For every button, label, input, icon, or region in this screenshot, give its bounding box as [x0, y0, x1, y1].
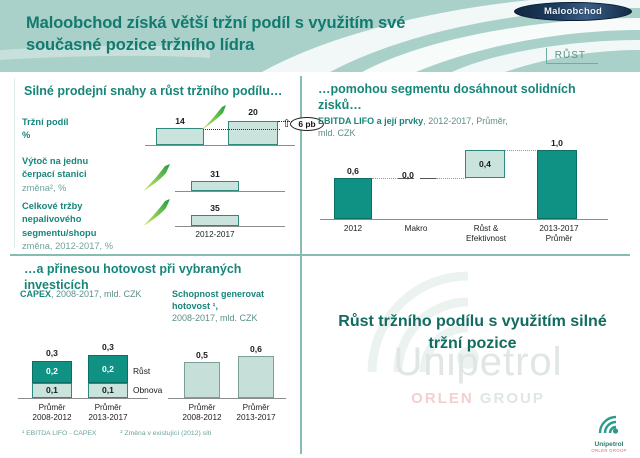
cash-bar-2: [238, 356, 274, 398]
slide-header: Maloobchod získá větší tržní podíl s vyu…: [0, 0, 640, 72]
nonfuel-axis: [175, 226, 285, 227]
page-title: Maloobchod získá větší tržní podíl s vyu…: [26, 13, 456, 57]
capex-bar2-obnova-value: 0,1: [88, 385, 128, 395]
waterfall-bar-2012: [334, 178, 372, 219]
waterfall-value-growth: 0,4: [465, 159, 505, 169]
capex-subtitle-rest: , 2008-2017, mld. CZK: [51, 289, 142, 299]
throughput-bar: [191, 181, 239, 191]
ebitda-subtitle-rest: , 2012-2017, Průměr,: [423, 116, 508, 126]
row-label-nonfuel-line3: segmentu/shopu: [22, 227, 140, 240]
capex-bar1-total: 0,3: [30, 348, 74, 358]
row-label-nonfuel-line1: Celkové tržby: [22, 200, 140, 213]
footnote-2: ² Změna v existující (2012) síti: [120, 430, 211, 437]
green-growth-arrow-icon: [142, 163, 172, 191]
left-panel-edge: [14, 78, 15, 248]
cash-subtitle-rest: 2008-2017, mld. CZK: [172, 313, 258, 323]
market-share-value-2017: 20: [228, 107, 278, 117]
ebitda-subtitle-strong: EBITDA LIFO a její prvky: [318, 116, 423, 126]
unipetrol-logo: Unipetrol ORLEN GROUP: [586, 414, 632, 453]
closing-headline: Růst tržního podílu s využitím silné trž…: [320, 311, 625, 356]
row-label-throughput-line2: čerpací stanici: [22, 168, 134, 181]
ebitda-subtitle-line2: mld. CZK: [318, 128, 356, 138]
nonfuel-bar: [191, 215, 239, 226]
nonfuel-value: 35: [191, 203, 239, 213]
nonfuel-period-label: 2012-2017: [176, 230, 254, 240]
waterfall-value-makro: 0,0: [396, 170, 420, 180]
row-label-throughput: Výtoč na jednu čerpací stanici změna², %: [22, 155, 134, 195]
row-label-market-share: Tržní podíl %: [22, 116, 132, 143]
capex-subtitle: CAPEX, 2008-2017, mld. CZK: [20, 288, 170, 300]
waterfall-bar-avg: [537, 150, 577, 219]
capex-bar1-rust-value: 0,2: [32, 366, 72, 376]
section-title-profits: …pomohou segmentu dosáhnout solidních zi…: [318, 82, 598, 113]
capex-axis: [18, 398, 148, 399]
cash-bar-1: [184, 362, 220, 398]
unipetrol-logo-sub: ORLEN GROUP: [586, 448, 632, 453]
waterfall-makro-bar-right: [420, 178, 436, 179]
green-growth-arrow-icon: [200, 104, 228, 130]
cash-value-1: 0,5: [182, 350, 222, 360]
legend-obnova: Obnova: [133, 385, 162, 395]
throughput-value: 31: [191, 169, 239, 179]
waterfall-connector-3: [505, 150, 538, 151]
ebitda-subtitle: EBITDA LIFO a její prvky, 2012-2017, Prů…: [318, 115, 608, 139]
row-label-nonfuel-line2: nepalivového: [22, 213, 140, 226]
maloobchod-badge: Maloobchod: [514, 2, 632, 21]
cash-subtitle: Schopnost generovat hotovost ¹, 2008-201…: [172, 288, 297, 324]
market-share-bar-2012: [156, 128, 204, 145]
waterfall-value-avg: 1,0: [534, 138, 580, 148]
cash-xlabel-2: Průměr2013-2017: [226, 403, 286, 424]
cash-value-2: 0,6: [236, 344, 276, 354]
capex-xlabel-2: Průměr2013-2017: [78, 403, 138, 424]
row-label-market-share-unit: %: [22, 129, 132, 142]
maloobchod-badge-label: Maloobchod: [544, 6, 602, 17]
slide-root: Maloobchod získá větší tržní podíl s vyu…: [0, 0, 640, 458]
waterfall-value-2012: 0,6: [330, 166, 376, 176]
waterfall-xlabel-2012: 2012: [325, 224, 381, 234]
waterfall-connector-2: [436, 178, 466, 179]
market-share-axis: [145, 145, 295, 146]
green-growth-arrow-icon: [142, 198, 172, 226]
watermark-orlen-name: ORLEN: [411, 390, 474, 407]
market-share-value-2012: 14: [156, 116, 204, 126]
unipetrol-logo-name: Unipetrol: [586, 441, 632, 448]
rust-tab[interactable]: RŮST: [546, 48, 598, 64]
waterfall-xlabel-makro: Makro: [388, 224, 444, 234]
watermark-orlen: ORLEN GROUP: [348, 390, 608, 407]
capex-bar1-obnova-value: 0,1: [32, 385, 72, 395]
row-label-nonfuel: Celkové tržby nepalivového segmentu/shop…: [22, 200, 140, 254]
cash-subtitle-strong: Schopnost generovat hotovost ¹,: [172, 289, 264, 311]
footnote-1: ¹ EBITDA LIFO - CAPEX: [22, 430, 96, 437]
capex-xlabel-1: Průměr2008-2012: [22, 403, 82, 424]
cash-axis: [168, 398, 286, 399]
cash-xlabel-1: Průměr2008-2012: [172, 403, 232, 424]
row-label-throughput-line1: Výtoč na jednu: [22, 155, 134, 168]
watermark-orlen-group: GROUP: [480, 390, 545, 407]
footnotes: ¹ EBITDA LIFO - CAPEX ² Změna v existují…: [22, 430, 233, 437]
capex-subtitle-strong: CAPEX: [20, 289, 51, 299]
unipetrol-mark-icon: [597, 414, 621, 435]
row-label-throughput-unit: změna², %: [22, 182, 134, 195]
market-share-bar-2017: [228, 121, 278, 145]
legend-rust: Růst: [133, 366, 150, 376]
waterfall-xlabel-growth: Růst & Efektivnost: [455, 224, 517, 245]
panel-bottom-right: Unipetrol ORLEN GROUP Růst tržního podíl…: [302, 256, 640, 458]
throughput-axis: [175, 191, 285, 192]
waterfall-xlabel-avg: 2013-2017 Průměr: [528, 224, 590, 245]
capex-bar2-total: 0,3: [86, 342, 130, 352]
row-label-market-share-text: Tržní podíl: [22, 116, 132, 129]
section-title-sales: Silné prodejní snahy a růst tržního podí…: [24, 84, 289, 100]
row-label-nonfuel-unit: změna, 2012-2017, %: [22, 240, 140, 253]
capex-bar2-rust-value: 0,2: [88, 364, 128, 374]
waterfall-axis: [320, 219, 608, 220]
